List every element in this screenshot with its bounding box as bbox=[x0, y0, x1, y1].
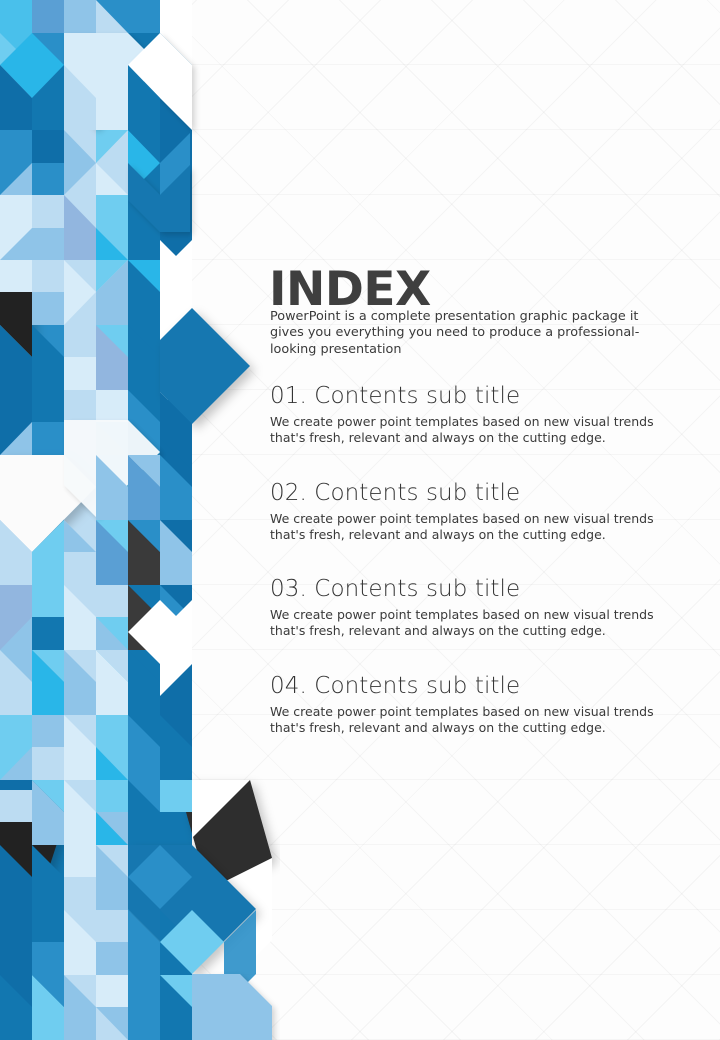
page-subtitle: PowerPoint is a complete presentation gr… bbox=[270, 309, 662, 359]
index-entry-heading: 04. Contents sub title bbox=[270, 672, 669, 701]
index-entry-heading: 01. Contents sub title bbox=[270, 382, 669, 411]
index-entry-body: We create power point templates based on… bbox=[270, 511, 662, 543]
index-entry-03[interactable]: 03. Contents sub title We create power p… bbox=[269, 575, 669, 639]
content-column: INDEX PowerPoint is a complete presentat… bbox=[269, 0, 689, 1040]
index-entry-02[interactable]: 02. Contents sub title We create power p… bbox=[269, 479, 669, 543]
index-entry-04[interactable]: 04. Contents sub title We create power p… bbox=[269, 672, 669, 736]
index-section-list: 01. Contents sub title We create power p… bbox=[269, 382, 669, 736]
index-entry-body: We create power point templates based on… bbox=[270, 704, 662, 736]
artwork-upper-band bbox=[0, 0, 250, 800]
artwork-lower-band bbox=[0, 780, 272, 1040]
geometric-artwork bbox=[0, 0, 280, 1040]
index-entry-body: We create power point templates based on… bbox=[270, 414, 662, 446]
index-entry-body: We create power point templates based on… bbox=[270, 607, 662, 639]
index-entry-heading: 02. Contents sub title bbox=[270, 479, 669, 508]
index-entry-01[interactable]: 01. Contents sub title We create power p… bbox=[269, 382, 669, 446]
index-entry-heading: 03. Contents sub title bbox=[270, 575, 669, 604]
